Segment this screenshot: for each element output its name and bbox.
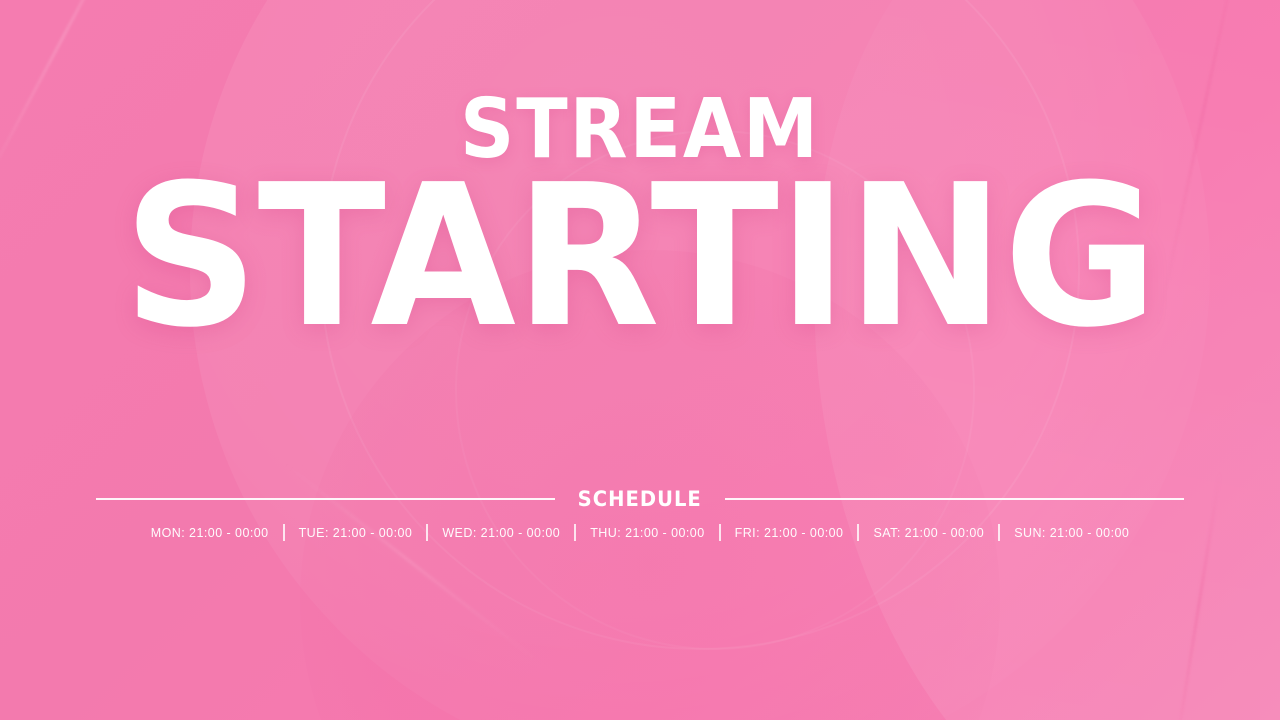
schedule-day-wed: WED: 21:00 - 00:00 — [428, 526, 574, 540]
schedule-day-mon: MON: 21:00 - 00:00 — [137, 526, 283, 540]
schedule-section: SCHEDULE MON: 21:00 - 00:00 TUE: 21:00 -… — [0, 487, 1280, 541]
page-title: STREAM STARTING — [0, 92, 1280, 340]
schedule-header: SCHEDULE — [0, 487, 1280, 511]
schedule-day-fri: FRI: 21:00 - 00:00 — [721, 526, 858, 540]
schedule-title: SCHEDULE — [578, 487, 702, 511]
schedule-rule-right — [725, 498, 1184, 500]
schedule-day-thu: THU: 21:00 - 00:00 — [576, 526, 718, 540]
schedule-day-sat: SAT: 21:00 - 00:00 — [859, 526, 998, 540]
schedule-day-sun: SUN: 21:00 - 00:00 — [1000, 526, 1143, 540]
schedule-rule-left — [96, 498, 555, 500]
stream-starting-screen: STREAM STARTING SCHEDULE MON: 21:00 - 00… — [0, 0, 1280, 720]
schedule-day-list: MON: 21:00 - 00:00 TUE: 21:00 - 00:00 WE… — [0, 524, 1280, 541]
schedule-day-tue: TUE: 21:00 - 00:00 — [285, 526, 427, 540]
headline-line-starting: STARTING — [26, 175, 1255, 340]
